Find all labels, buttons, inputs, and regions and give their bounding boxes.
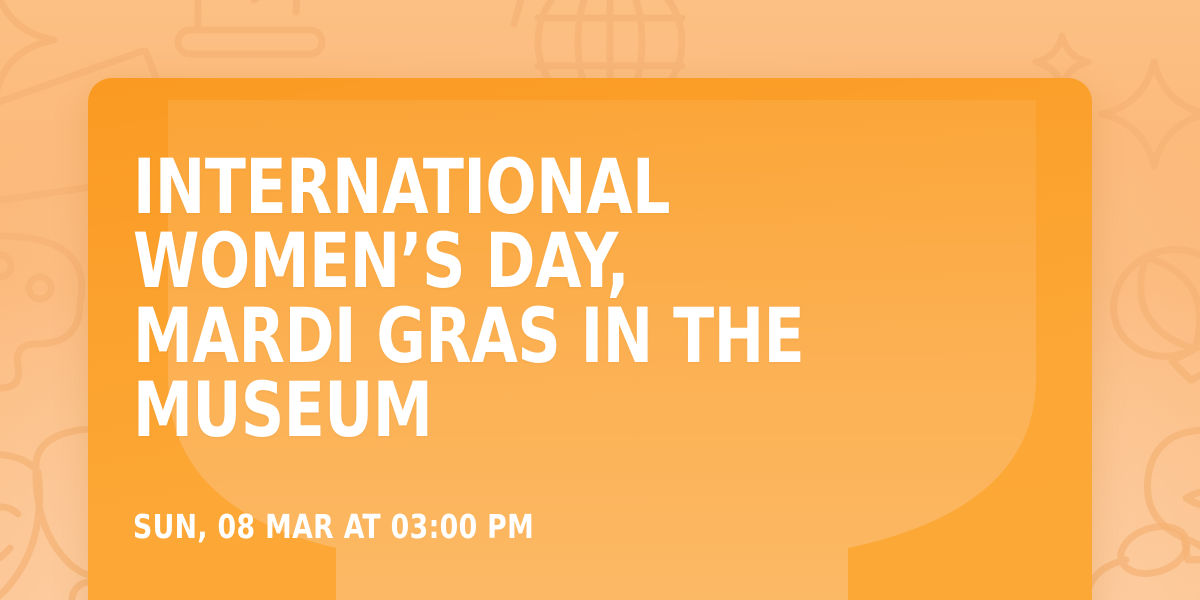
lightbulb-icon [1112,412,1200,582]
star-burst-icon [0,0,76,120]
sparkle-icon [1092,56,1200,196]
event-hero-card[interactable]: INTERNATIONAL WOMEN’S DAY, MARDI GRAS IN… [88,78,1092,600]
page-title: INTERNATIONAL WOMEN’S DAY, MARDI GRAS IN… [133,150,925,448]
event-banner-page: INTERNATIONAL WOMEN’S DAY, MARDI GRAS IN… [0,0,1200,600]
event-datetime: SUN, 08 MAR AT 03:00 PM [133,510,943,543]
music-note-icon [1086,516,1200,600]
balloon-icon [1108,226,1200,416]
confetti-dash-icon [500,0,560,50]
palette-icon [0,222,94,402]
card-text-block: INTERNATIONAL WOMEN’S DAY, MARDI GRAS IN… [133,150,1033,543]
